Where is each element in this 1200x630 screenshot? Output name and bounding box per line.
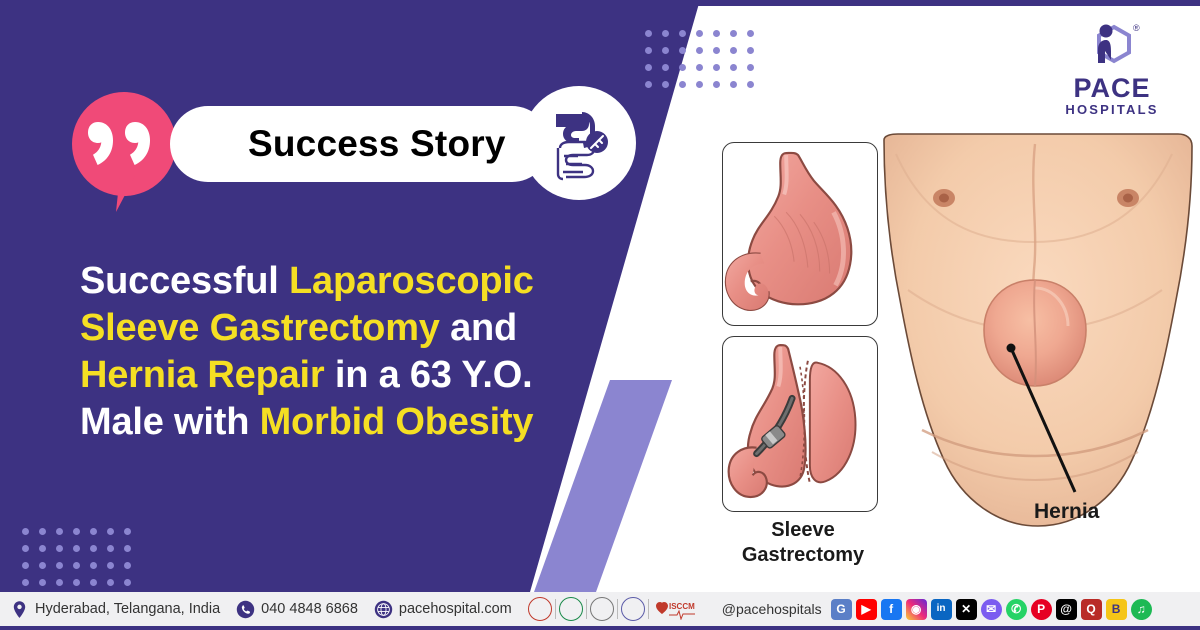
globe-icon	[374, 600, 393, 619]
svg-text:ISCCM: ISCCM	[669, 602, 695, 611]
headline-line1-white: Successful	[80, 260, 289, 302]
headline-line2-white: and	[440, 307, 517, 349]
social-icon-row: G ▶ f ◉ in ✕ ✉ ✆ P @ Q B ♫	[831, 599, 1152, 620]
stomach-illustration	[723, 143, 877, 325]
website-text: pacehospital.com	[399, 601, 512, 617]
blogger-icon[interactable]: B	[1106, 599, 1127, 620]
location-text: Hyderabad, Telangana, India	[35, 601, 220, 617]
instagram-icon[interactable]: ◉	[906, 599, 927, 620]
dot-grid-bottom	[22, 528, 141, 596]
hernia-annotation-label: Hernia	[1034, 500, 1099, 524]
youtube-icon[interactable]: ▶	[856, 599, 877, 620]
google-business-icon[interactable]: G	[831, 599, 852, 620]
brand-logo: ® PACE HOSPITALS	[1052, 18, 1172, 118]
success-story-pill: Success Story	[170, 106, 550, 182]
headline-line4-yellow: Morbid Obesity	[260, 401, 534, 443]
phone-text: 040 4848 6868	[261, 601, 358, 617]
facebook-icon[interactable]: f	[881, 599, 902, 620]
success-story-label: Success Story	[248, 123, 506, 165]
headline-line4-white: Male with	[80, 401, 260, 443]
normal-stomach-panel	[722, 142, 878, 326]
pinterest-icon[interactable]: P	[1031, 599, 1052, 620]
success-story-banner: Success Story	[0, 0, 1200, 630]
caption-line-2: Gastrectomy	[742, 544, 864, 566]
threads-icon[interactable]: @	[1056, 599, 1077, 620]
nabl-accreditation-logo	[590, 597, 614, 621]
top-accent-strip	[0, 0, 1200, 6]
headline-line1-yellow: Laparoscopic	[289, 260, 534, 302]
social-handle: @pacehospitals	[722, 601, 822, 617]
footer-website[interactable]: pacehospital.com	[374, 600, 512, 619]
hexagon-person-icon: ®	[1052, 18, 1172, 74]
logo-wordmark: PACE	[1052, 74, 1172, 102]
government-accreditation-logo	[621, 597, 645, 621]
nabh-nursing-accreditation-logo	[559, 597, 583, 621]
spotify-icon[interactable]: ♫	[1131, 599, 1152, 620]
contact-footer-bar: Hyderabad, Telangana, India 040 4848 686…	[0, 592, 1200, 626]
footer-phone[interactable]: 040 4848 6868	[236, 600, 358, 619]
phone-icon	[236, 600, 255, 619]
accreditation-logos: ISCCM	[528, 597, 712, 621]
headline-line2-yellow: Sleeve Gastrectomy	[80, 307, 440, 349]
divider	[586, 599, 587, 619]
messenger-icon[interactable]: ✉	[981, 599, 1002, 620]
linkedin-icon[interactable]: in	[931, 599, 952, 620]
sleeve-gastrectomy-panel	[722, 336, 878, 512]
footer-location: Hyderabad, Telangana, India	[10, 600, 220, 619]
sleeve-gastrectomy-caption: Sleeve Gastrectomy	[708, 518, 898, 568]
divider	[555, 599, 556, 619]
speciality-icon-badge	[522, 86, 636, 200]
whatsapp-icon[interactable]: ✆	[1006, 599, 1027, 620]
digestive-system-icon	[540, 104, 618, 182]
divider	[648, 599, 649, 619]
quote-marks-icon	[88, 120, 160, 168]
divider	[617, 599, 618, 619]
nabh-accreditation-logo	[528, 597, 552, 621]
quora-icon[interactable]: Q	[1081, 599, 1102, 620]
x-twitter-icon[interactable]: ✕	[956, 599, 977, 620]
bottom-accent-strip	[0, 626, 1200, 630]
headline-line3-white: in a 63 Y.O.	[325, 354, 533, 396]
registered-mark: ®	[1133, 23, 1140, 33]
sleeve-gastrectomy-illustration	[723, 337, 877, 511]
caption-line-1: Sleeve	[771, 519, 834, 541]
logo-subtext: HOSPITALS	[1052, 102, 1172, 118]
headline-line3-yellow: Hernia Repair	[80, 354, 325, 396]
isccm-accreditation-logo: ISCCM	[652, 598, 712, 620]
obese-abdomen-illustration	[878, 130, 1198, 560]
page-title: Successful Laparoscopic Sleeve Gastrecto…	[80, 258, 625, 446]
map-pin-icon	[10, 600, 29, 619]
